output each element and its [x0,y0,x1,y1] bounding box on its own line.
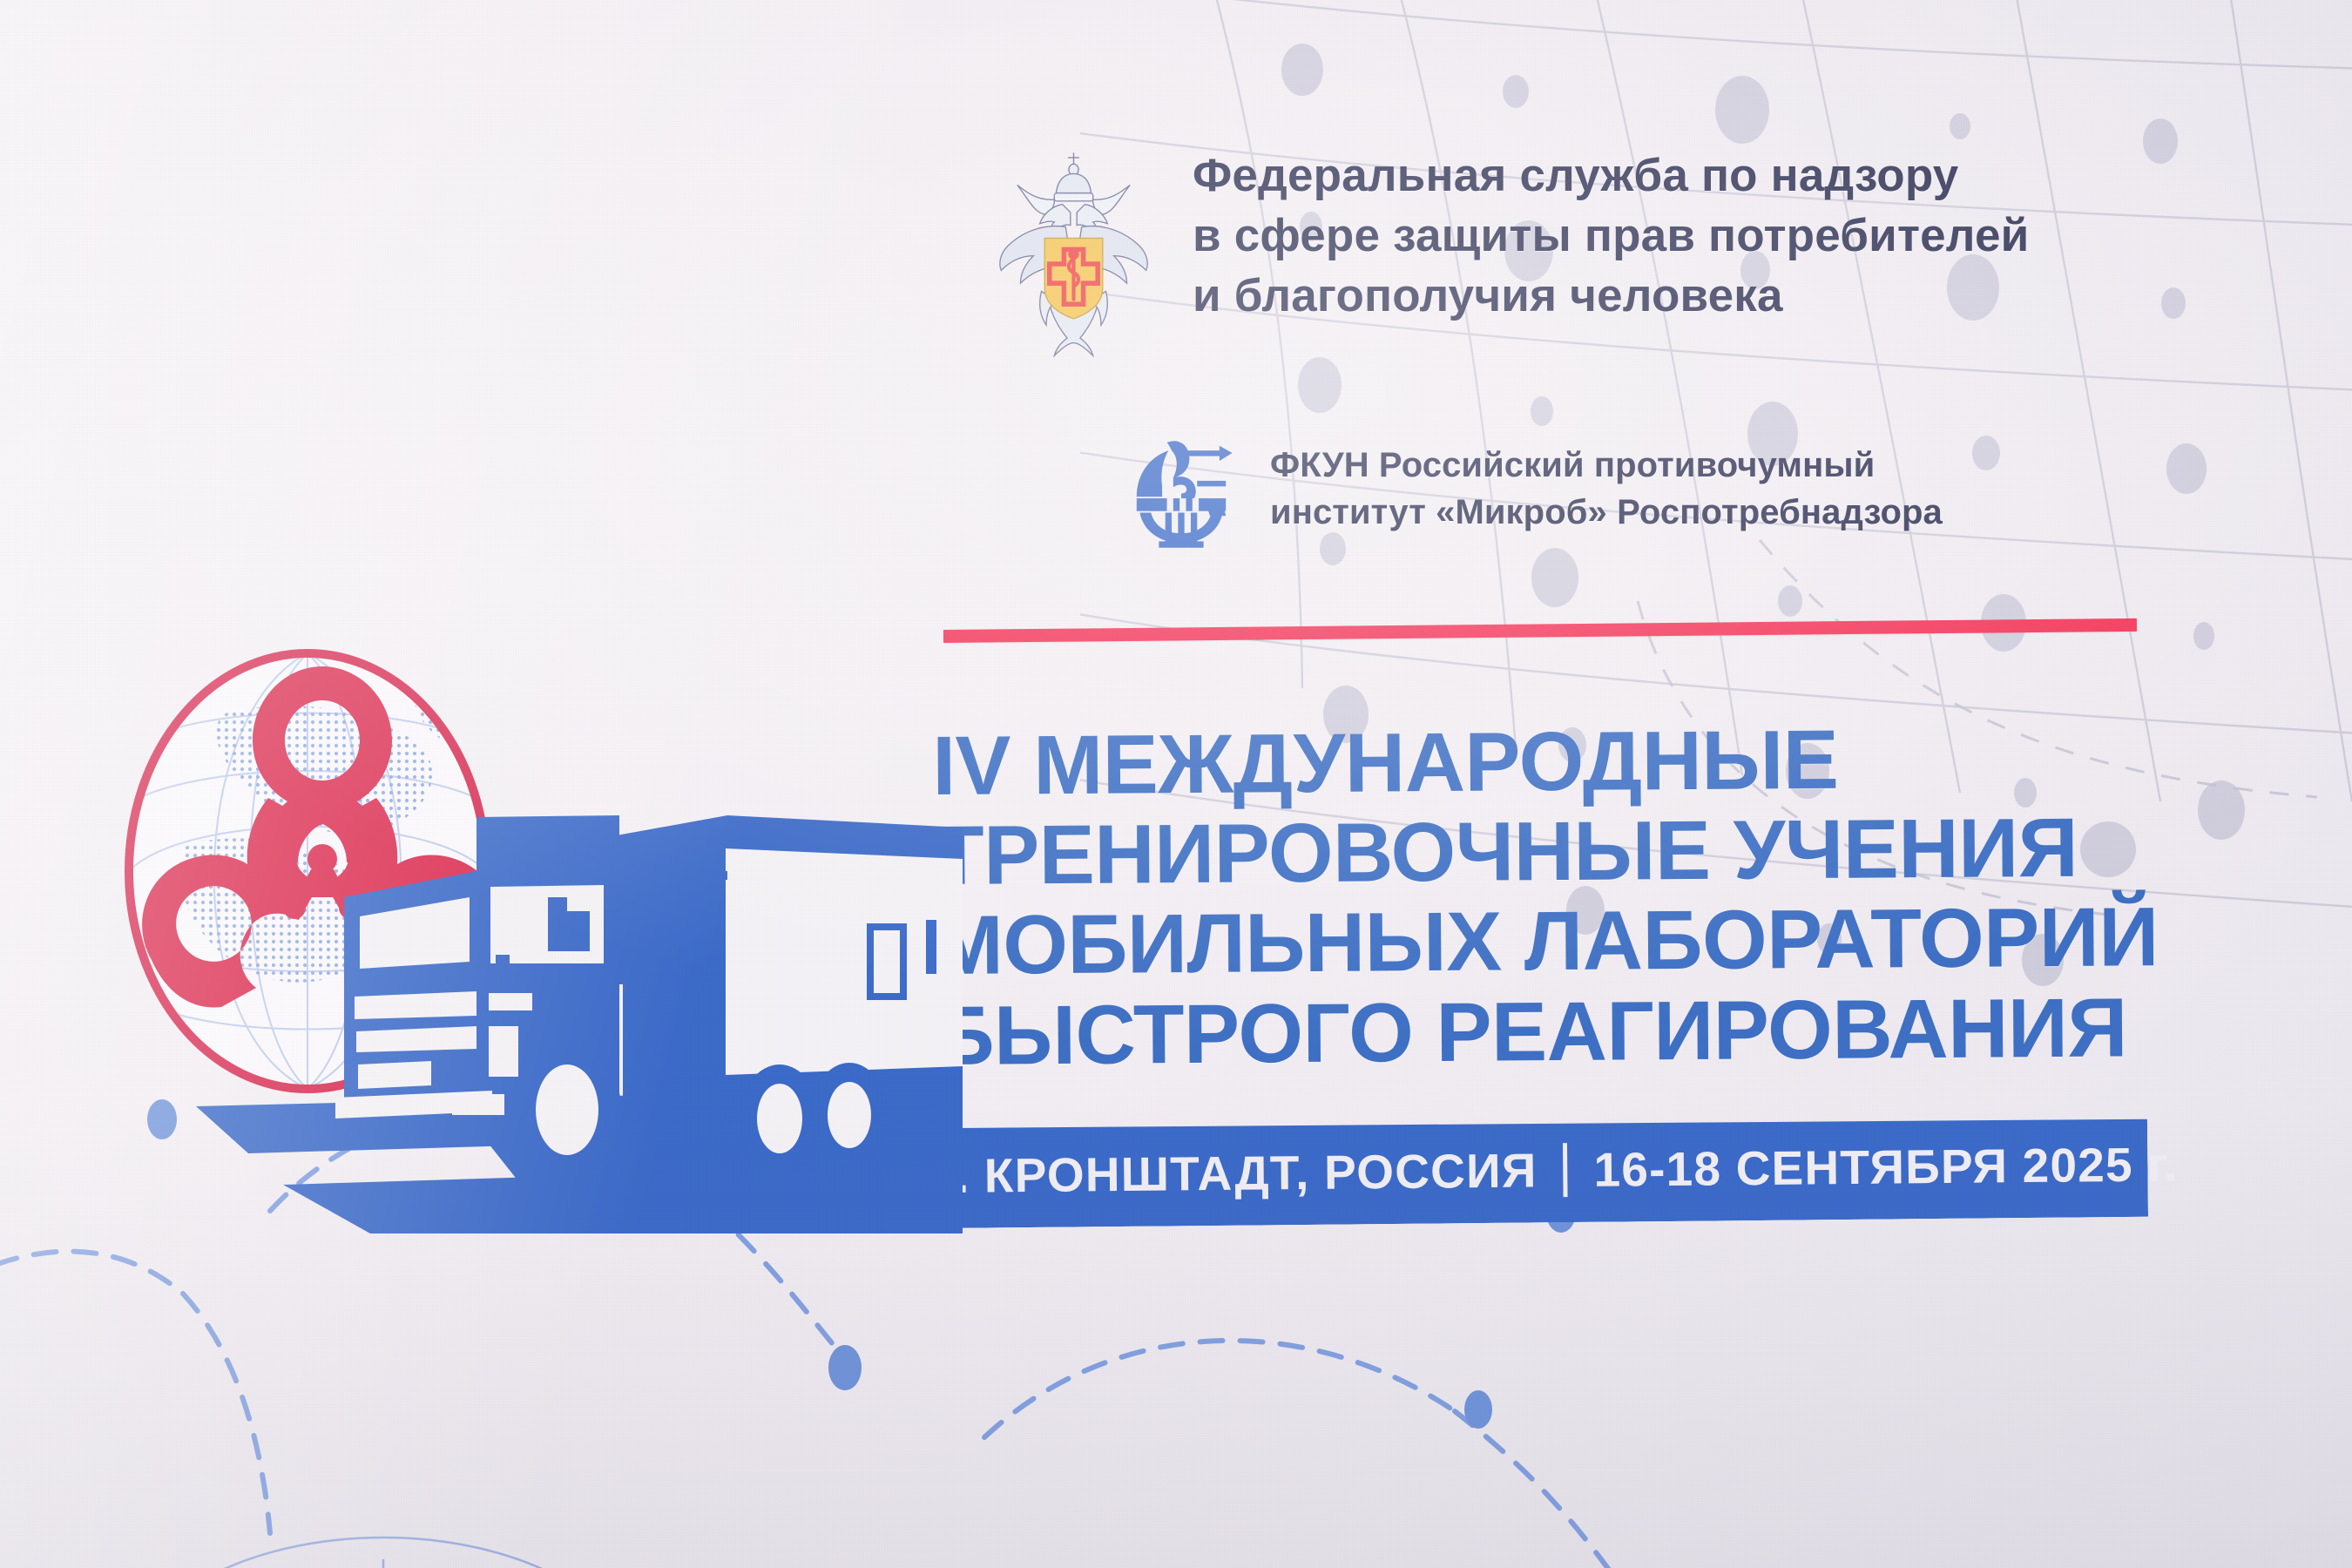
russian-double-headed-eagle-emblem [993,146,1154,360]
rospotrebnadzor-title: Федеральная служба по надзору в сфере за… [1193,146,2029,327]
dates-label: 16-18 СЕНТЯБРЯ 2025 г. [1593,1136,2178,1197]
mobile-laboratory-biohazard-globe-logo [83,610,963,1237]
mikrob-title: ФКУН Российский противочумный институт «… [1270,443,1943,536]
mikrob-institute-emblem [1125,429,1237,551]
page-title: IV МЕЖДУНАРОДНЫЕ ТРЕНИРОВОЧНЫЕ УЧЕНИЯ МО… [932,713,2172,1081]
mikrob-header: ФКУН Российский противочумный институт «… [1125,429,1943,551]
rospotrebnadzor-header: Федеральная служба по надзору в сфере за… [993,146,2029,360]
venue-date-text: г. КРОНШТАДТ, РОССИЯ 16-18 СЕНТЯБРЯ 2025… [939,1136,2179,1204]
venue-label: г. КРОНШТАДТ, РОССИЯ [939,1142,1538,1204]
ribbon-separator [1563,1143,1568,1197]
poster-banner: Федеральная служба по надзору в сфере за… [0,0,2352,1568]
